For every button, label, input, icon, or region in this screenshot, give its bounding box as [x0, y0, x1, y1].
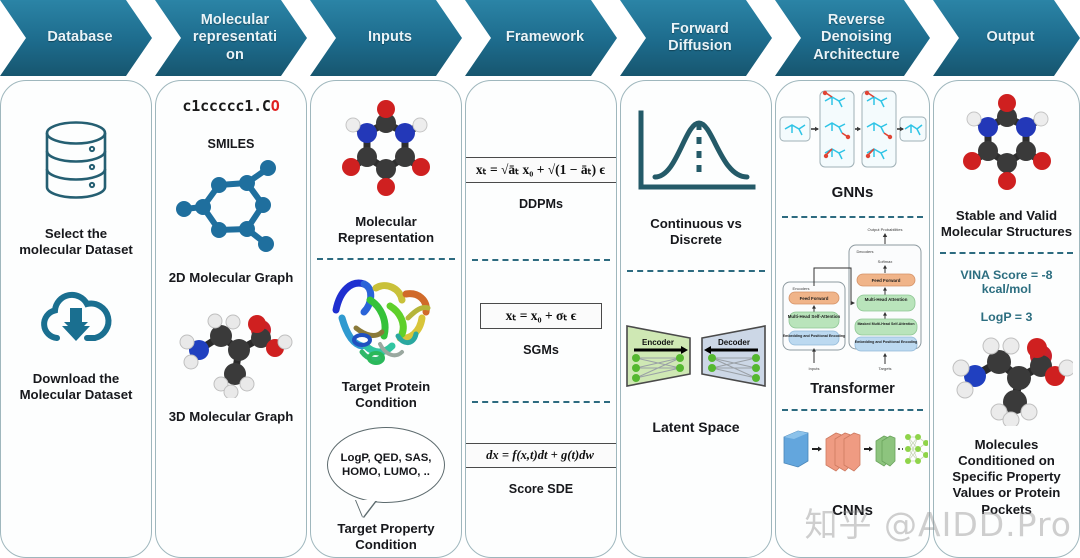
ribbon-step-label: Molecular representati on [155, 12, 307, 63]
caption-latent-space: Latent Space [626, 419, 766, 436]
caption-target-property: Target Property Condition [313, 521, 459, 553]
ribbon-step-output[interactable]: Output [933, 0, 1080, 76]
ribbon-step-label: Database [19, 29, 132, 46]
transformer-encoder-embedding-label: Embedding and Positional Encoding [782, 334, 845, 338]
ribbon-step-label: Forward Diffusion [620, 21, 772, 55]
caption-2d-graph: 2D Molecular Graph [163, 270, 299, 286]
ribbon-step-label: Output [958, 29, 1054, 46]
transformer-output-probabilities-label: Output Probabilities [867, 227, 902, 232]
smiles-text: c1ccccc1.C [182, 97, 270, 115]
transformer-inputs-label: Inputs [808, 366, 819, 371]
panel-framework: xₜ = √āₜ x₀ + √(1 − āₜ) ϵ DDPMs xₜ = x₀ … [465, 80, 617, 558]
convolutional-network-icon [778, 423, 928, 482]
transformer-softmax-label: Softmax [877, 259, 892, 264]
ribbon-step-label: Framework [478, 29, 604, 46]
transformer-masked-attention-label: Masked Multi-Head Self-Attention [857, 322, 914, 326]
uracil-3d-ballstick-icon [327, 99, 445, 208]
transformer-targets-label: Targets [878, 366, 891, 371]
transformer-multi-head-attention-label-1: Multi-Head Attention [864, 297, 907, 302]
ribbon-step-framework[interactable]: Framework [465, 0, 617, 76]
caption-transformer: Transformer [806, 381, 899, 399]
ribbon-step-label: Inputs [340, 29, 432, 46]
equation-ddpm-text: xₜ = √āₜ x₀ + √(1 − āₜ) ϵ [476, 162, 605, 177]
equation-score-sde-text: dx = f(x,t)dt + g(t)dw [486, 448, 594, 462]
process-ribbon: Database Molecular representati on Input… [0, 0, 1080, 76]
caption-target-protein: Target Protein Condition [316, 379, 456, 411]
caption-conditioned-molecules: Molecules Conditioned on Specific Proper… [933, 437, 1080, 517]
diagram-root: Database Molecular representati on Input… [0, 0, 1080, 558]
transformer-self-attention-label: Multi-Head Self-Attention [787, 314, 840, 319]
gaussian-distribution-icon [633, 107, 759, 202]
transformer-encoder-feed-forward-label: Feed Forward [799, 296, 828, 301]
ribbon-step-label: Reverse Denoising Architecture [775, 12, 930, 63]
label-ddpms: DDPMs [519, 197, 563, 211]
caption-3d-graph: 3D Molecular Graph [163, 409, 299, 425]
vina-score-text: VINA Score = -8 kcal/mol [934, 268, 1079, 296]
panel-output: Stable and Valid Molecular Structures VI… [933, 80, 1080, 558]
database-caption-select: Select the molecular Dataset [11, 226, 141, 258]
ribbon-step-molecular-representation[interactable]: Molecular representati on [155, 0, 307, 76]
smiles-highlight: O [271, 97, 280, 115]
transformer-decoder-feed-forward-label: Feed Forward [871, 278, 900, 283]
alanine-3d-ballstick-icon [169, 304, 293, 403]
equation-sgm: xₜ = x₀ + σₜ ϵ [480, 303, 602, 329]
transformer-decoder-embedding-label: Embedding and Positional Encoding [854, 340, 917, 344]
panel-row: Select the molecular Dataset Download th… [0, 80, 1080, 558]
transformer-decoders-label: Decoders [856, 249, 873, 254]
label-score-sde: Score SDE [509, 482, 573, 496]
panel-database: Select the molecular Dataset Download th… [0, 80, 152, 558]
uracil-3d-ballstick-icon [948, 93, 1066, 202]
target-property-bubble: LogP, QED, SAS, HOMO, LUMO, .. [327, 427, 445, 503]
graph-neural-network-icon [778, 89, 928, 174]
ribbon-step-inputs[interactable]: Inputs [310, 0, 462, 76]
encoder-decoder-icon: Encoder Decoder [624, 324, 768, 393]
ribbon-step-reverse-denoising[interactable]: Reverse Denoising Architecture [775, 0, 930, 76]
caption-cnns: CNNs [828, 502, 877, 520]
decoder-label: Decoder [718, 338, 750, 347]
encoder-label: Encoder [642, 338, 674, 347]
transformer-encoders-label: Encoders [792, 286, 809, 291]
database-cylinder-icon [39, 119, 113, 210]
caption-gnns: GNNs [828, 184, 878, 202]
smiles-label: SMILES [208, 137, 255, 151]
database-caption-download: Download the Molecular Dataset [6, 371, 146, 403]
panel-molecular-representation: c1ccccc1.CO SMILES 2D Molecular Graph [155, 80, 307, 558]
logp-text: LogP = 3 [981, 310, 1033, 324]
alanine-3d-ballstick-icon [941, 330, 1073, 431]
panel-inputs: Molecular Representation [310, 80, 462, 558]
benzene-2d-graph-icon [175, 157, 287, 262]
caption-continuous-vs-discrete: Continuous vs Discrete [630, 216, 762, 248]
caption-molecular-representation: Molecular Representation [316, 214, 456, 246]
label-sgms: SGMs [523, 343, 559, 357]
panel-reverse-denoising: GNNs Output Probabilities Decoders Softm… [775, 80, 930, 558]
target-property-bubble-text: LogP, QED, SAS, HOMO, LUMO, .. [328, 451, 444, 480]
transformer-architecture-icon: Output Probabilities Decoders Softmax Fe… [777, 224, 929, 379]
panel-forward-diffusion: Continuous vs Discrete Encoder Decoder [620, 80, 772, 558]
equation-sgm-text: xₜ = x₀ + σₜ ϵ [506, 308, 577, 323]
protein-ribbon-icon [322, 266, 450, 375]
cloud-download-icon [37, 288, 115, 357]
smiles-string: c1ccccc1.CO [182, 97, 279, 115]
caption-stable-valid-structures: Stable and Valid Molecular Structures [934, 208, 1080, 240]
equation-score-sde: dx = f(x,t)dt + g(t)dw [465, 443, 617, 468]
ribbon-step-forward-diffusion[interactable]: Forward Diffusion [620, 0, 772, 76]
ribbon-step-database[interactable]: Database [0, 0, 152, 76]
equation-ddpm: xₜ = √āₜ x₀ + √(1 − āₜ) ϵ [465, 157, 617, 183]
